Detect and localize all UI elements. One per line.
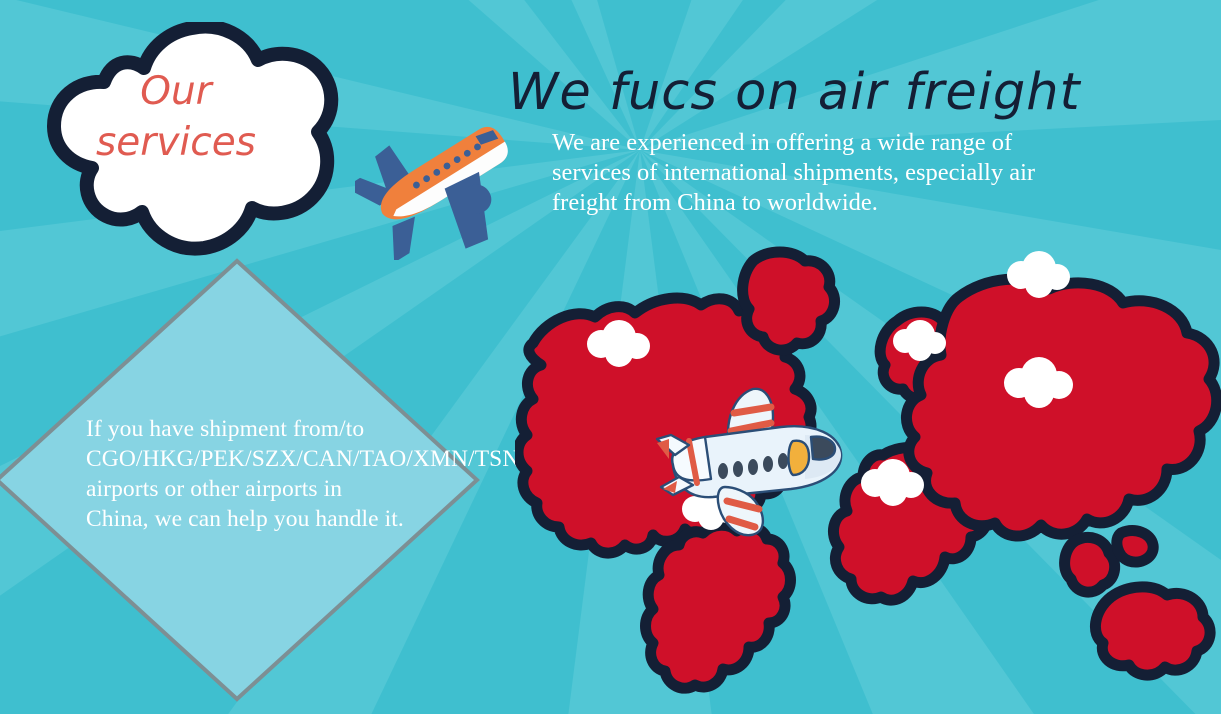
world-map-icon — [515, 245, 1221, 700]
airplane-orange-blue-icon — [355, 108, 520, 260]
cloud-badge-label: Our services — [60, 66, 292, 168]
intro-paragraph: We are experienced in offering a wide ra… — [552, 128, 1052, 218]
diamond-panel-text: If you have shipment from/to CGO/HKG/PEK… — [86, 414, 404, 534]
airplane-white-striped-icon — [655, 383, 851, 538]
slide-canvas: If you have shipment from/to CGO/HKG/PEK… — [0, 0, 1221, 714]
page-title: We fucs on air freight — [508, 62, 1081, 124]
